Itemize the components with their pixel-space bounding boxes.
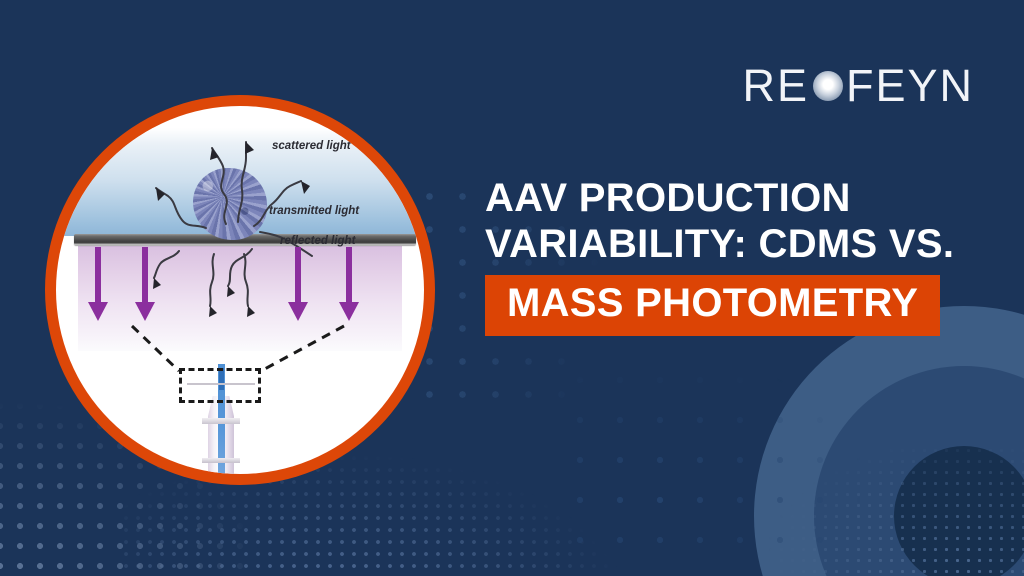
label-transmitted-light: transmitted light <box>269 205 359 217</box>
page-title: AAV PRODUCTION VARIABILITY: CDMS VS. MAS… <box>485 176 995 336</box>
title-line-1: AAV PRODUCTION <box>485 176 995 222</box>
title-line-2: VARIABILITY: CDMS VS. <box>485 222 995 268</box>
glowing-dot-icon <box>813 71 843 101</box>
detail-zoom-box <box>179 368 261 403</box>
ring-outer <box>754 306 1024 576</box>
label-reflected-light: reflected light <box>280 235 355 247</box>
logo-text-after: FEYN <box>846 60 974 112</box>
illustration-circle: scattered light transmitted light reflec… <box>45 95 435 485</box>
slide-canvas: RE FEYN AAV PRODUCTION VARIABILITY: CDMS… <box>0 0 1024 576</box>
light-paths-svg <box>56 106 424 474</box>
objective-band-lower <box>202 458 240 463</box>
concentric-rings-decoration <box>754 306 1024 576</box>
objective-band-upper <box>202 418 240 424</box>
ring-inner <box>894 446 1024 576</box>
illustration-canvas: scattered light transmitted light reflec… <box>56 106 424 474</box>
logo-text-before: RE <box>742 60 809 112</box>
halftone-dots-right <box>600 346 1024 576</box>
ring-mid <box>814 366 1024 576</box>
halftone-dots-mid-right <box>560 360 860 560</box>
refeyn-logo[interactable]: RE FEYN <box>742 60 974 112</box>
title-highlight-badge: MASS PHOTOMETRY <box>485 275 940 336</box>
label-scattered-light: scattered light <box>272 140 351 152</box>
